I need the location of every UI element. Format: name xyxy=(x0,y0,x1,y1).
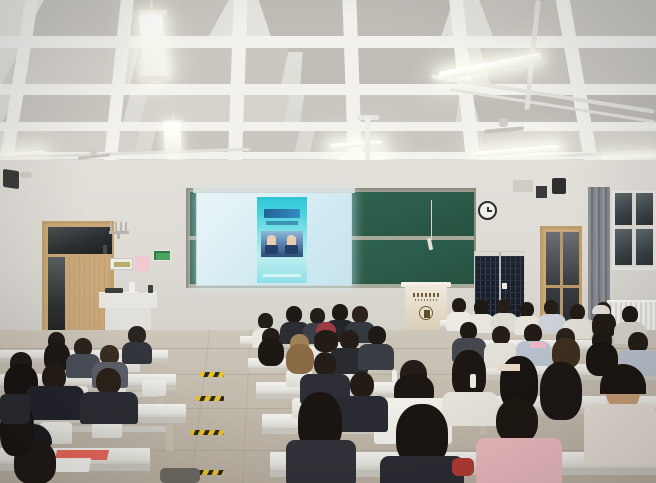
hanging-pointer-string xyxy=(431,200,432,240)
aisle-hazard-marker xyxy=(196,396,224,401)
aisle-hazard-marker xyxy=(200,372,224,377)
notebook xyxy=(498,364,520,371)
slide-footer-bar xyxy=(263,274,301,277)
water-bottle xyxy=(470,374,476,388)
slide-content xyxy=(257,197,307,283)
door-opening xyxy=(48,257,65,339)
classroom-door-left[interactable] xyxy=(42,221,114,339)
phone-pocket-card xyxy=(502,283,507,289)
projection-screen xyxy=(196,192,352,286)
podium-subtitle xyxy=(415,299,437,301)
wall-control-panel[interactable] xyxy=(110,258,133,270)
side-counter-top xyxy=(99,292,157,308)
bag-on-floor xyxy=(160,468,200,483)
classroom-photo xyxy=(0,0,656,483)
wall-bracket-rack xyxy=(109,222,129,238)
wall-clock xyxy=(478,201,497,220)
water-bottle xyxy=(392,370,397,382)
podium-university-name xyxy=(413,293,439,297)
ceiling-camera-icon xyxy=(20,172,32,178)
wall-junction-box xyxy=(103,245,107,254)
wall-speaker-left xyxy=(3,169,19,189)
exit-sign-icon xyxy=(153,250,171,261)
slide-photo xyxy=(261,231,303,257)
wall-speaker-right-2 xyxy=(552,178,566,194)
backpack xyxy=(0,394,30,424)
wall-equipment-box xyxy=(513,180,533,192)
slide-subtitle-text xyxy=(266,221,298,225)
panel-screen xyxy=(114,262,130,267)
red-bag xyxy=(452,458,474,476)
window xyxy=(612,190,656,270)
pink-notice-sheet xyxy=(135,256,149,271)
aisle-hazard-marker xyxy=(190,430,224,435)
university-emblem-icon xyxy=(419,306,433,320)
slide-title-text xyxy=(264,209,300,218)
pink-item-on-desk xyxy=(530,342,546,348)
wall-speaker-right-1 xyxy=(536,186,547,198)
white-cap-icon xyxy=(592,305,610,314)
